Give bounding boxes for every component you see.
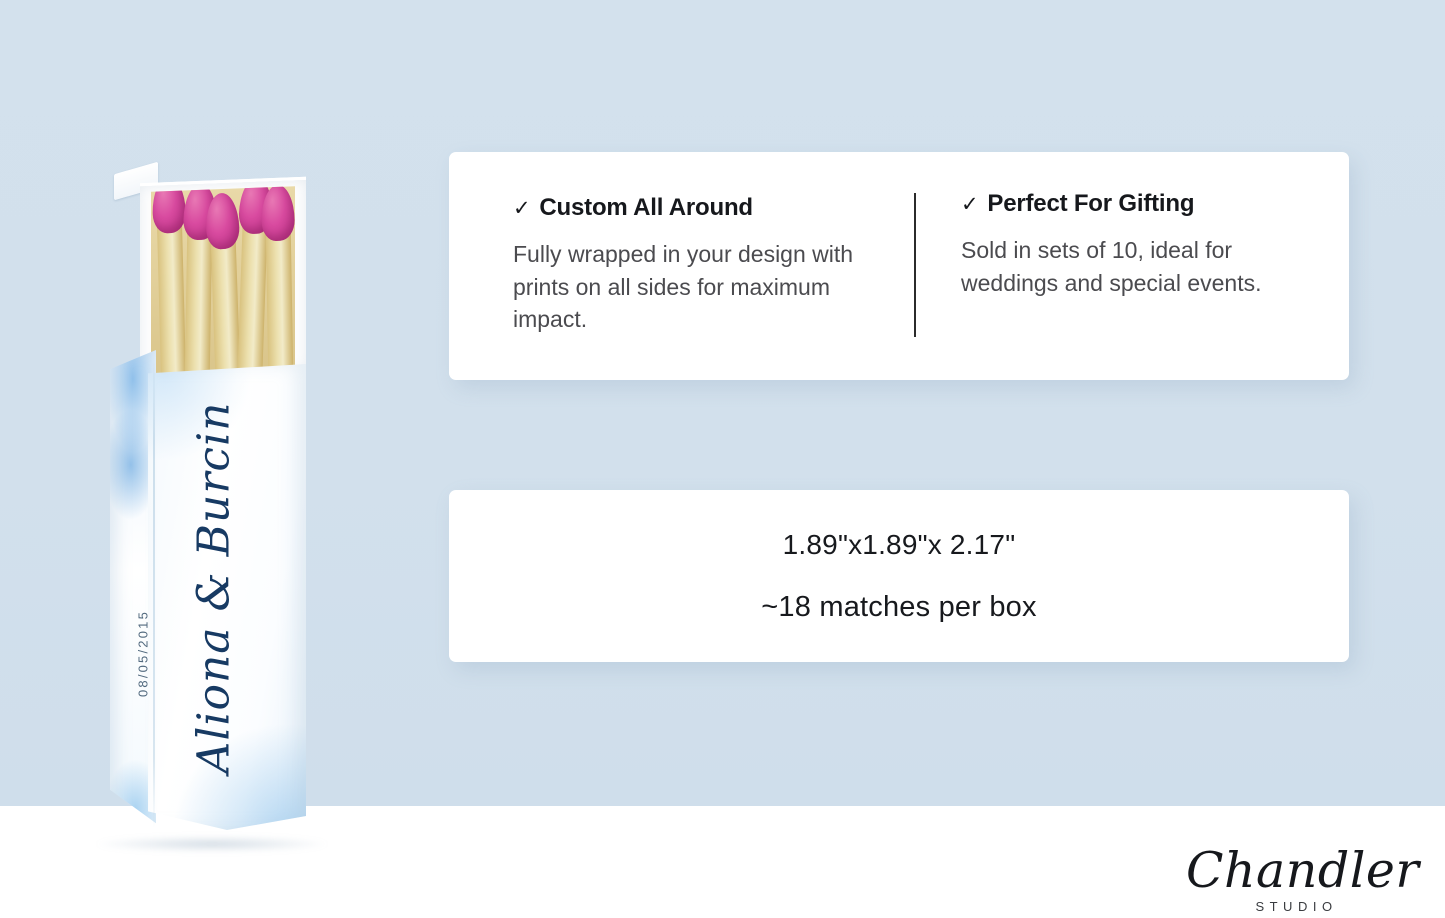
match-head <box>261 186 295 242</box>
feature-body: Sold in sets of 10, ideal for weddings a… <box>961 234 1311 299</box>
feature-body: Fully wrapped in your design with prints… <box>513 238 863 336</box>
check-icon: ✓ <box>961 194 978 215</box>
product-contact-shadow <box>96 836 328 852</box>
check-icon: ✓ <box>513 198 530 219</box>
box-open-tray <box>140 177 306 376</box>
box-printed-sleeve: Aliona & Burcin 08/05/2015 <box>104 350 314 844</box>
feature-title-row: ✓ Perfect For Gifting <box>961 190 1313 218</box>
brand-logo: Chandler STUDIO <box>1186 846 1402 914</box>
specifications-card: 1.89"x1.89"x 2.17" ~18 matches per box <box>449 490 1349 662</box>
spec-quantity: ~18 matches per box <box>761 591 1036 624</box>
matches-group <box>151 186 295 376</box>
brand-subtitle: STUDIO <box>1186 899 1402 914</box>
product-photo-matchbox: Aliona & Burcin 08/05/2015 <box>104 168 319 844</box>
brand-name: Chandler <box>1186 846 1402 895</box>
box-wedding-date: 08/05/2015 <box>136 579 151 729</box>
match-head <box>152 186 186 234</box>
feature-title: Custom All Around <box>539 194 752 222</box>
feature-perfect-for-gifting: ✓ Perfect For Gifting Sold in sets of 10… <box>901 152 1349 380</box>
feature-title: Perfect For Gifting <box>987 190 1194 218</box>
feature-custom-all-around: ✓ Custom All Around Fully wrapped in you… <box>449 152 901 380</box>
spec-dimensions: 1.89"x1.89"x 2.17" <box>783 529 1016 561</box>
box-corner-edge <box>153 356 155 828</box>
features-card: ✓ Custom All Around Fully wrapped in you… <box>449 152 1349 380</box>
box-couple-names: Aliona & Burcin <box>189 378 240 798</box>
feature-title-row: ✓ Custom All Around <box>513 194 865 222</box>
product-marketing-image: Aliona & Burcin 08/05/2015 ✓ Custom All … <box>0 0 1445 918</box>
